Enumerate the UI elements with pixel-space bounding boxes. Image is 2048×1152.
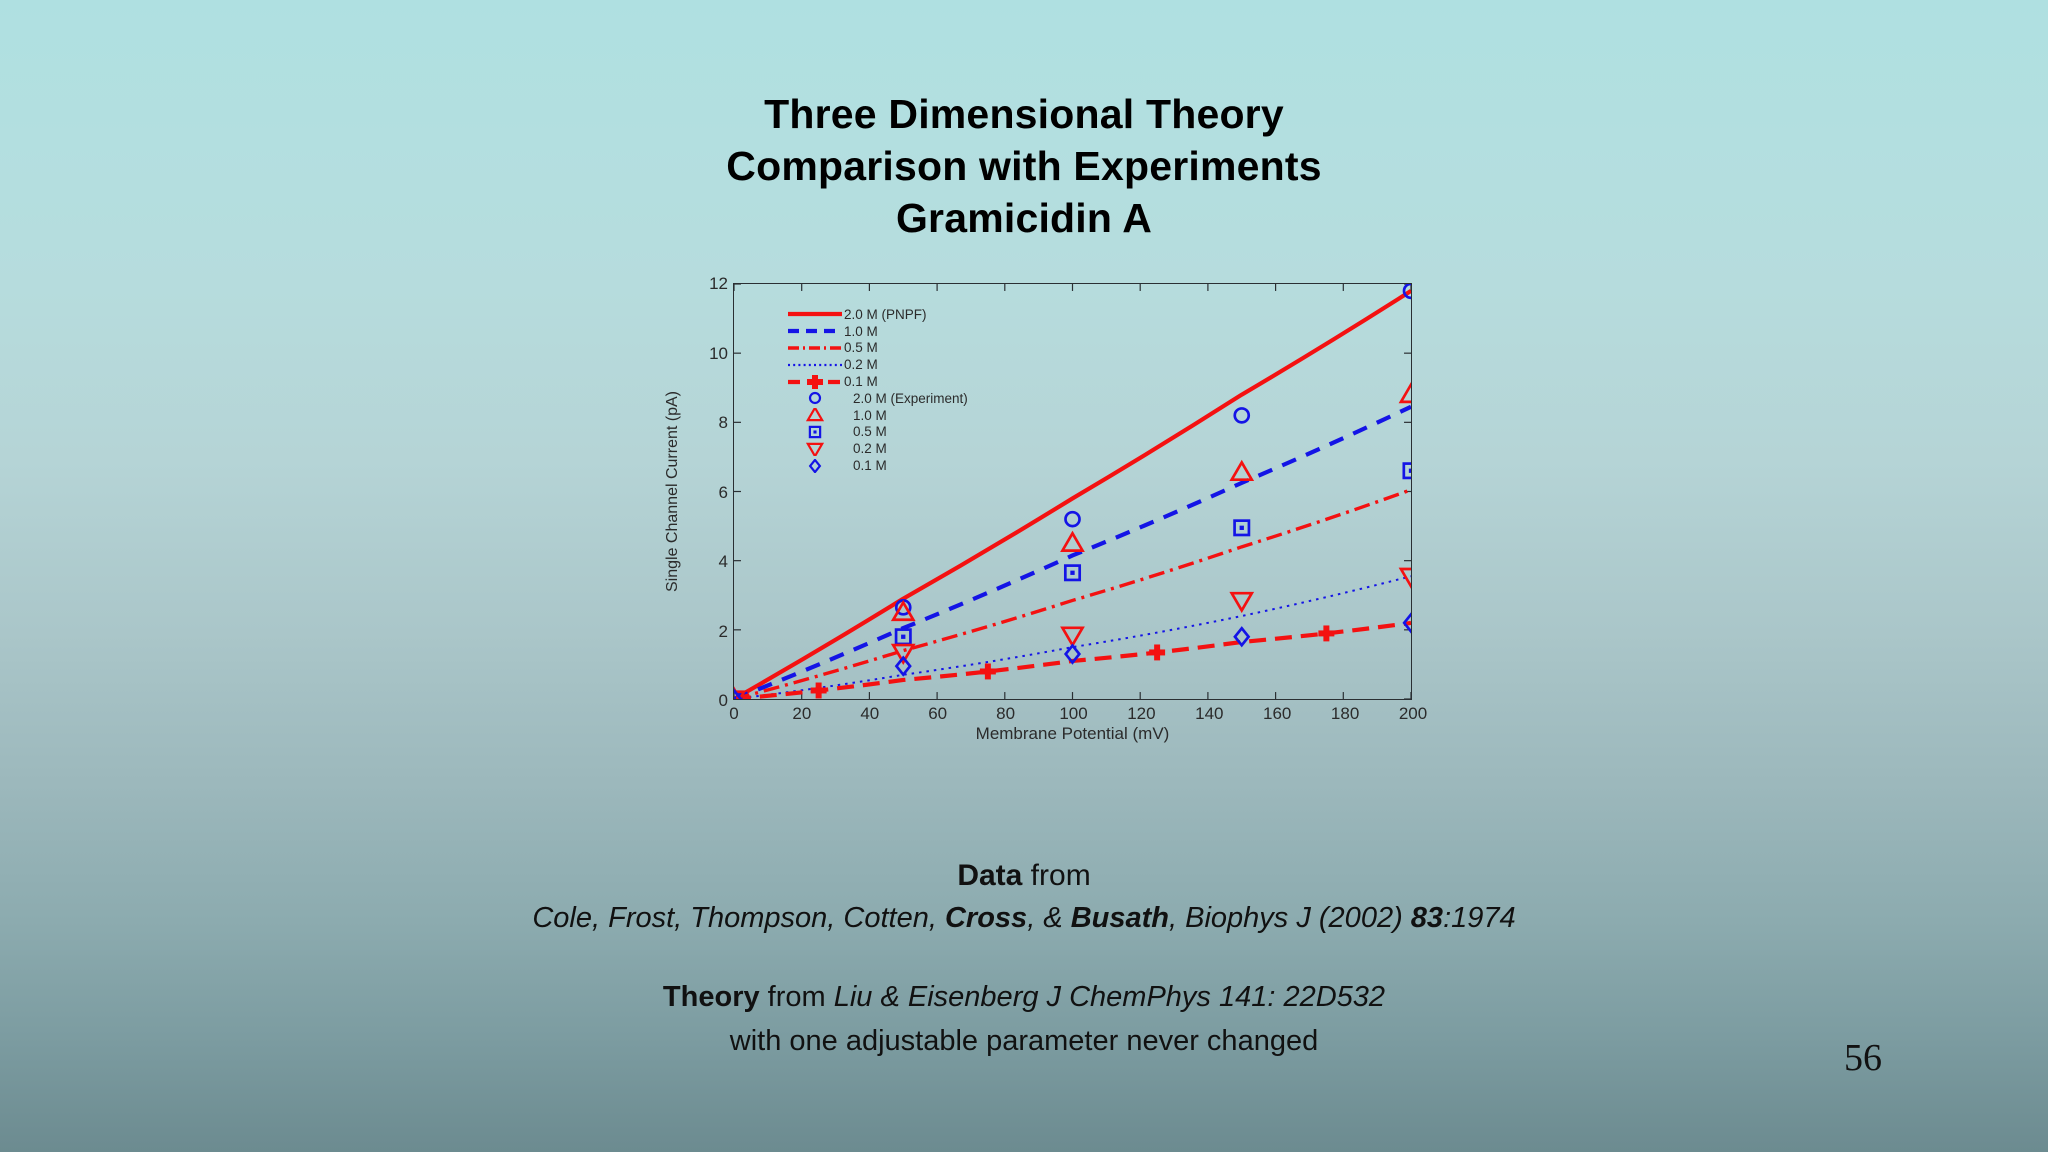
data-point-triangle-down	[1401, 569, 1411, 586]
data-point-diamond	[810, 459, 820, 471]
legend-item: 0.5 M	[786, 424, 968, 441]
plus-marker	[980, 664, 996, 680]
y-tick-label: 4	[719, 552, 728, 572]
legend-label: 1.0 M	[844, 408, 887, 423]
legend-marker-swatch	[786, 408, 844, 422]
legend-label: 0.2 M	[844, 357, 878, 372]
legend-item: 0.1 M	[786, 457, 968, 474]
chart-figure: Single Channel Current (pA) Membrane Pot…	[688, 262, 1428, 762]
plus-marker	[1149, 644, 1165, 660]
theory-curve	[734, 490, 1411, 699]
legend-label: 0.5 M	[844, 340, 878, 355]
y-tick-label: 0	[719, 691, 728, 711]
x-tick-label: 180	[1331, 704, 1359, 724]
legend-label: 0.2 M	[844, 441, 887, 456]
data-point-square	[896, 630, 910, 644]
slide-number: 56	[1844, 1036, 1882, 1080]
x-tick-label: 160	[1263, 704, 1291, 724]
x-tick-label: 60	[928, 704, 947, 724]
plot-area: 2.0 M (PNPF)1.0 M0.5 M0.2 M0.1 M2.0 M (E…	[733, 283, 1412, 700]
y-tick-label: 10	[709, 344, 728, 364]
legend-item: 0.5 M	[786, 340, 968, 357]
x-tick-label: 100	[1059, 704, 1087, 724]
legend-marker-swatch	[786, 425, 844, 439]
theory-credit: Theory from Liu & Eisenberg J ChemPhys 1…	[0, 975, 2048, 1063]
x-axis-label: Membrane Potential (mV)	[733, 724, 1412, 744]
legend-label: 2.0 M (Experiment)	[844, 391, 968, 406]
y-tick-label: 6	[719, 483, 728, 503]
data-point-circle	[1066, 512, 1080, 526]
x-tick-label: 80	[996, 704, 1015, 724]
chart-legend: 2.0 M (PNPF)1.0 M0.5 M0.2 M0.1 M2.0 M (E…	[786, 306, 968, 474]
slide: Three Dimensional Theory Comparison with…	[0, 0, 2048, 1152]
legend-label: 1.0 M	[844, 324, 878, 339]
legend-item: 0.1 M	[786, 373, 968, 390]
data-point-triangle-down	[1232, 593, 1252, 610]
authors-part-1: Cole, Frost, Thompson, Cotten,	[532, 902, 945, 934]
data-point-square	[1404, 464, 1411, 478]
legend-item: 1.0 M	[786, 323, 968, 340]
page-title: Three Dimensional Theory Comparison with…	[0, 88, 2048, 244]
credit-heading: Data from	[0, 855, 2048, 897]
legend-item: 0.2 M	[786, 440, 968, 457]
data-point-triangle	[1062, 533, 1082, 550]
y-axis-label: Single Channel Current (pA)	[664, 283, 686, 700]
title-line-3: Gramicidin A	[0, 192, 2048, 244]
legend-marker-swatch	[786, 459, 844, 473]
credit-authors: Cole, Frost, Thompson, Cotten, Cross, & …	[0, 897, 2048, 939]
author-cross: Cross	[945, 902, 1027, 934]
credit-heading-bold: Data	[957, 859, 1022, 892]
legend-label: 0.1 M	[844, 374, 878, 389]
y-tick-label: 2	[719, 622, 728, 642]
theory-reference: Liu & Eisenberg J ChemPhys 141: 22D532	[834, 981, 1385, 1013]
x-tick-label: 20	[792, 704, 811, 724]
legend-line-swatch	[786, 324, 844, 338]
legend-line-swatch	[786, 375, 844, 389]
title-line-1: Three Dimensional Theory	[0, 88, 2048, 140]
legend-line-swatch	[786, 358, 844, 372]
x-tick-label: 40	[860, 704, 879, 724]
journal-volume: 83	[1411, 902, 1443, 934]
authors-part-4: :1974	[1443, 902, 1516, 934]
plus-marker	[811, 683, 827, 699]
y-tick-label: 8	[719, 413, 728, 433]
authors-part-2: , &	[1027, 902, 1071, 934]
legend-label: 0.1 M	[844, 458, 887, 473]
y-tick-label: 12	[709, 274, 728, 294]
x-tick-label: 120	[1127, 704, 1155, 724]
legend-item: 2.0 M (Experiment)	[786, 390, 968, 407]
legend-item: 0.2 M	[786, 356, 968, 373]
data-point-circle	[810, 393, 820, 403]
x-tick-label: 0	[729, 704, 738, 724]
theory-label: Theory	[663, 981, 760, 1013]
theory-line-1: Theory from Liu & Eisenberg J ChemPhys 1…	[0, 975, 2048, 1019]
authors-part-3: , Biophys J (2002)	[1169, 902, 1411, 934]
legend-label: 0.5 M	[844, 424, 887, 439]
data-point-triangle	[1401, 385, 1411, 402]
legend-label: 2.0 M (PNPF)	[844, 307, 927, 322]
legend-line-swatch	[786, 307, 844, 321]
data-point-triangle	[1232, 462, 1252, 479]
data-point-triangle	[808, 408, 822, 420]
data-point-triangle-down	[1062, 628, 1082, 645]
x-tick-label: 200	[1399, 704, 1427, 724]
data-point-square	[1235, 521, 1249, 535]
x-tick-label: 140	[1195, 704, 1223, 724]
plus-marker	[1318, 625, 1334, 641]
data-credit: Data from Cole, Frost, Thompson, Cotten,…	[0, 855, 2048, 939]
theory-label-rest: from	[760, 981, 834, 1013]
legend-marker-swatch	[786, 442, 844, 456]
data-point-triangle-down	[808, 444, 822, 456]
legend-item: 1.0 M	[786, 407, 968, 424]
data-point-circle	[1235, 408, 1249, 422]
title-line-2: Comparison with Experiments	[0, 140, 2048, 192]
legend-marker-swatch	[786, 391, 844, 405]
author-busath: Busath	[1071, 902, 1169, 934]
data-point-square	[1065, 566, 1079, 580]
theory-line-2: with one adjustable parameter never chan…	[0, 1019, 2048, 1063]
legend-line-swatch	[786, 341, 844, 355]
credit-heading-rest: from	[1022, 859, 1090, 892]
data-point-square	[810, 427, 820, 437]
legend-item: 2.0 M (PNPF)	[786, 306, 968, 323]
